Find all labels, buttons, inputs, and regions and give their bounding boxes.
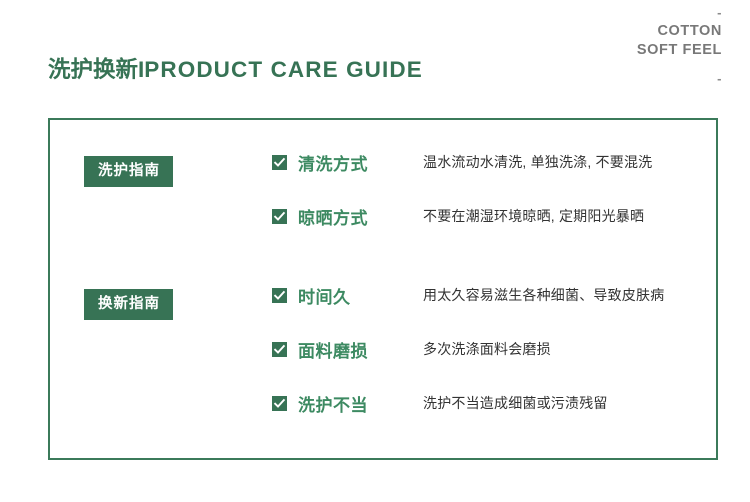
brand-mark: - COTTON SOFT FEEL - xyxy=(637,6,722,85)
brand-line-1: COTTON xyxy=(637,22,722,41)
section-items-washing: 清洗方式 温水流动水清洗, 单独洗涤, 不要混洗 晾晒方式 不要在潮湿环境晾晒,… xyxy=(272,150,716,228)
section-badge-container: 洗护指南 xyxy=(50,150,272,187)
care-item: 洗护不当 洗护不当造成细菌或污渍残留 xyxy=(272,391,716,415)
care-guide-page: - COTTON SOFT FEEL - 洗护换新IPRODUCT CARE G… xyxy=(0,0,750,502)
care-item: 清洗方式 温水流动水清洗, 单独洗涤, 不要混洗 xyxy=(272,150,716,174)
care-item-label: 清洗方式 xyxy=(298,150,423,175)
checkbox-checked-icon xyxy=(272,396,287,411)
care-item-label: 面料磨损 xyxy=(298,337,423,362)
section-washing-care: 洗护指南 清洗方式 温水流动水清洗, 单独洗涤, 不要混洗 晾 xyxy=(50,150,716,228)
care-item-label: 洗护不当 xyxy=(298,391,423,416)
care-item: 面料磨损 多次洗涤面料会磨损 xyxy=(272,337,716,361)
brand-dash-bottom: - xyxy=(637,72,722,85)
checkbox-checked-icon xyxy=(272,288,287,303)
page-title-en: PRODUCT CARE GUIDE xyxy=(144,57,423,82)
section-replacement-guide: 换新指南 时间久 用太久容易滋生各种细菌、导致皮肤病 面料磨损 xyxy=(50,283,716,415)
care-guide-card: 洗护指南 清洗方式 温水流动水清洗, 单独洗涤, 不要混洗 晾 xyxy=(48,118,718,460)
care-item-label: 时间久 xyxy=(298,283,423,308)
care-item-label: 晾晒方式 xyxy=(298,204,423,229)
section-items-replacement: 时间久 用太久容易滋生各种细菌、导致皮肤病 面料磨损 多次洗涤面料会磨损 xyxy=(272,283,716,415)
checkbox-checked-icon xyxy=(272,155,287,170)
section-badge-replacement: 换新指南 xyxy=(84,289,173,320)
care-item-desc: 不要在潮湿环境晾晒, 定期阳光暴晒 xyxy=(423,206,716,226)
section-badge-container: 换新指南 xyxy=(50,283,272,320)
care-item-desc: 洗护不当造成细菌或污渍残留 xyxy=(423,393,716,413)
brand-line-2: SOFT FEEL xyxy=(637,41,722,60)
brand-dash-top: - xyxy=(637,6,722,19)
page-title: 洗护换新IPRODUCT CARE GUIDE xyxy=(48,52,423,84)
section-badge-washing: 洗护指南 xyxy=(84,156,173,187)
care-item: 晾晒方式 不要在潮湿环境晾晒, 定期阳光暴晒 xyxy=(272,204,716,228)
care-item-desc: 用太久容易滋生各种细菌、导致皮肤病 xyxy=(423,285,716,305)
checkbox-checked-icon xyxy=(272,342,287,357)
care-item-desc: 多次洗涤面料会磨损 xyxy=(423,339,716,359)
page-title-cn: 洗护换新I xyxy=(48,57,144,82)
checkbox-checked-icon xyxy=(272,209,287,224)
care-item-desc: 温水流动水清洗, 单独洗涤, 不要混洗 xyxy=(423,152,716,172)
care-item: 时间久 用太久容易滋生各种细菌、导致皮肤病 xyxy=(272,283,716,307)
